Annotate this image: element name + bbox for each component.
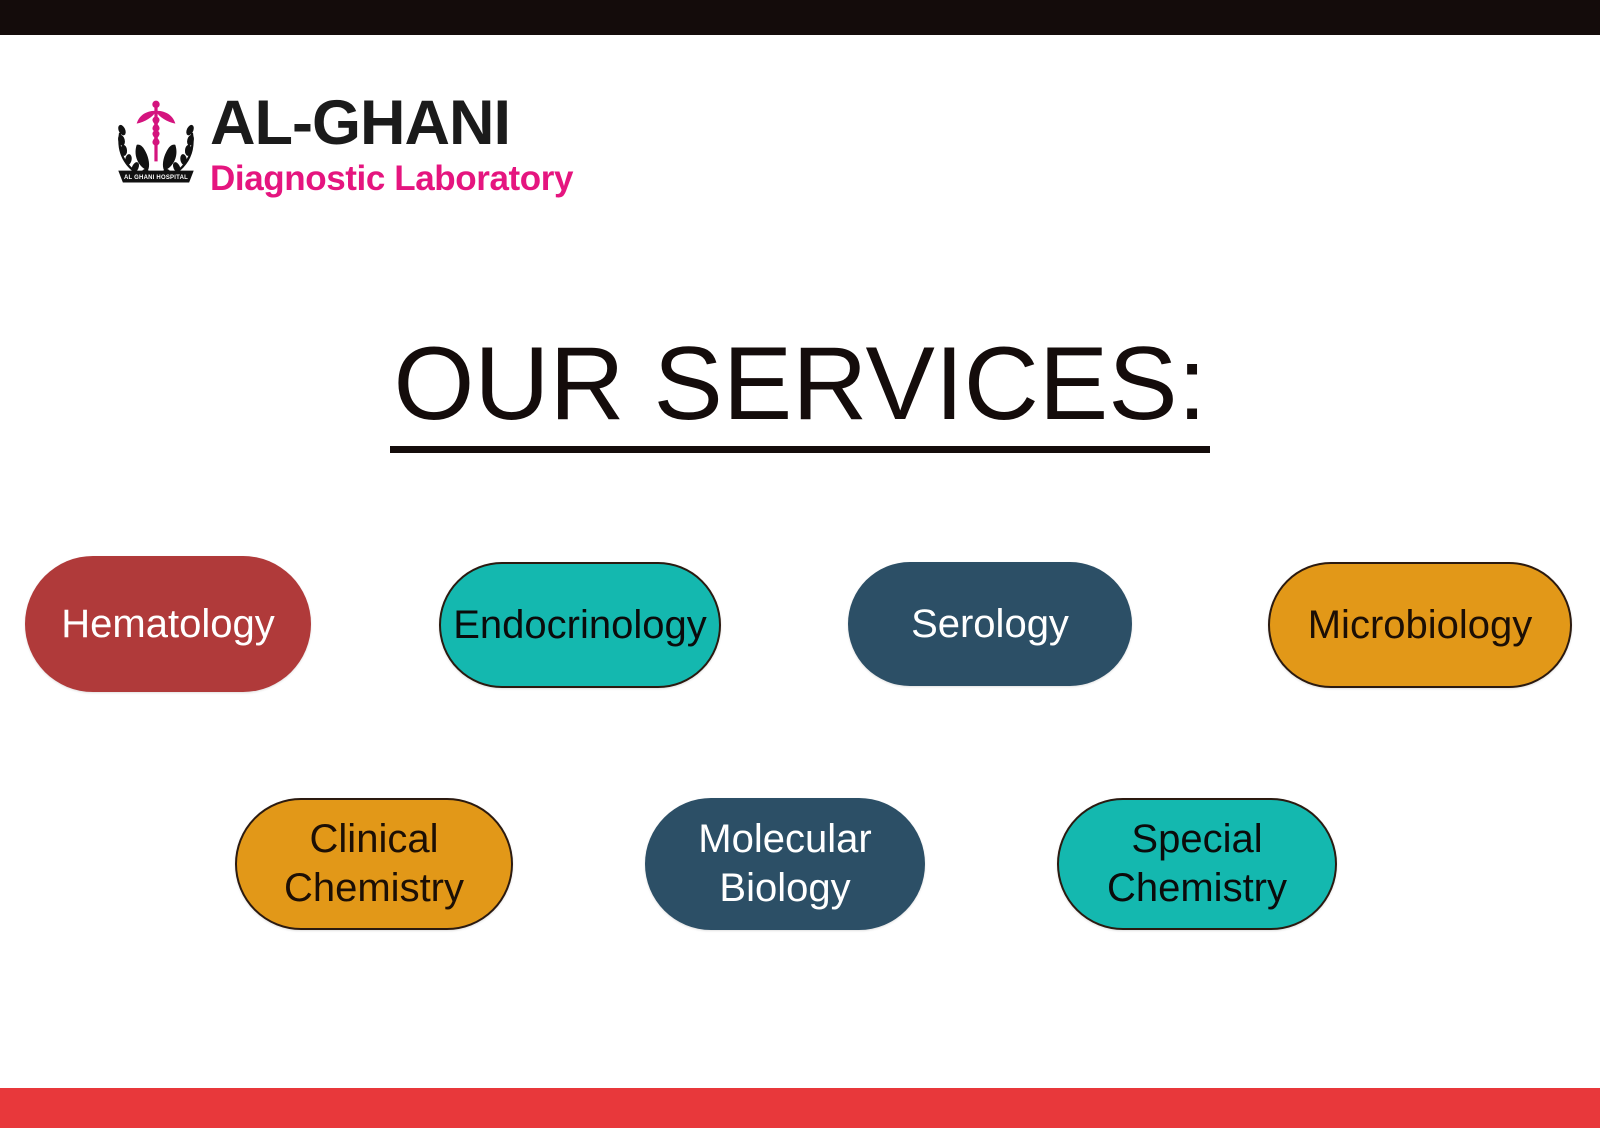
logo-block: AL GHANI HOSPITAL AL-GHANI Diagnostic La… [25,45,893,310]
top-accent-bar [0,0,1600,35]
services-slide: AL GHANI HOSPITAL AL-GHANI Diagnostic La… [0,0,1600,1128]
caduceus-laurel-emblem: AL GHANI HOSPITAL [110,97,202,189]
service-pill-hematology[interactable]: Hematology [25,556,311,692]
service-pill-molecular-biology[interactable]: Molecular Biology [645,798,925,930]
service-pill-endocrinology[interactable]: Endocrinology [439,562,721,688]
bottom-accent-bar [0,1088,1600,1128]
service-pill-serology[interactable]: Serology [848,562,1132,686]
logo-wordmark: AL-GHANI Diagnostic Laboratory [210,95,573,196]
service-pill-microbiology[interactable]: Microbiology [1268,562,1572,688]
service-pill-clinical-chemistry[interactable]: Clinical Chemistry [235,798,513,930]
logo-subtitle: Diagnostic Laboratory [210,161,573,196]
service-pill-special-chemistry[interactable]: Special Chemistry [1057,798,1337,930]
emblem-banner-text: AL GHANI HOSPITAL [124,175,188,181]
page-title: OUR SERVICES: [390,330,1211,453]
logo-name: AL-GHANI [210,95,510,153]
page-title-wrap: OUR SERVICES: [0,330,1600,453]
